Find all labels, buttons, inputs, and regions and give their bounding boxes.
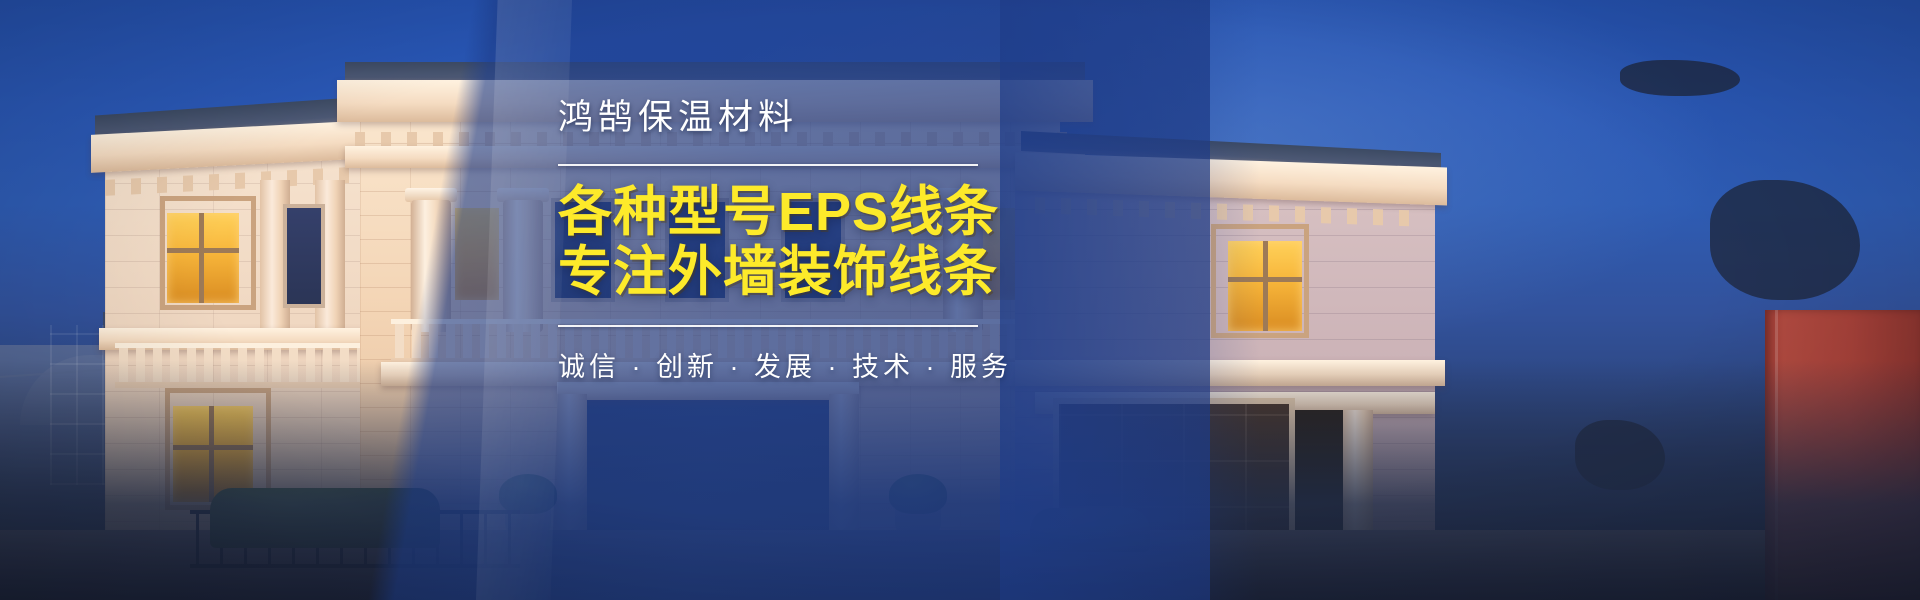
hero-text-block: 鸿鹄保温材料 各种型号EPS线条 专注外墙装饰线条 诚信 · 创新 · 发展 ·… (558, 96, 1258, 384)
headline-line-2: 专注外墙装饰线条 (558, 242, 1258, 302)
divider-bottom (558, 325, 978, 327)
window-mullion (1263, 241, 1268, 331)
window-mullion (199, 213, 204, 303)
tagline: 诚信 · 创新 · 发展 · 技术 · 服务 (558, 345, 1258, 384)
window-mullion (167, 248, 239, 253)
brand-name: 鸿鹄保温材料 (558, 96, 1258, 140)
hero-banner: 鸿鹄保温材料 各种型号EPS线条 专注外墙装饰线条 诚信 · 创新 · 发展 ·… (0, 0, 1920, 600)
headline-line-1: 各种型号EPS线条 (558, 182, 1258, 242)
divider-top (558, 164, 978, 166)
tree-branch (1620, 60, 1740, 96)
dark-window (283, 204, 325, 308)
